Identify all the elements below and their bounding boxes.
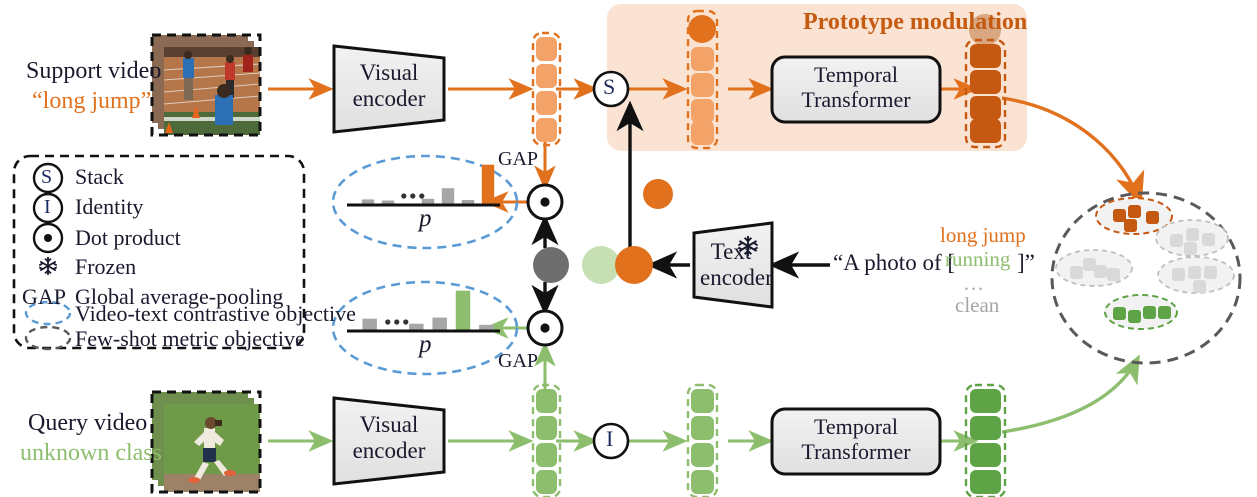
text-encoder-label: Textencoder <box>700 239 762 291</box>
query-video-class: unknown class <box>20 440 162 467</box>
query-to-embedding-arrow <box>1002 358 1138 432</box>
chart-bar <box>432 318 446 331</box>
legend-icon-dot-product <box>34 224 62 252</box>
prompt-class-long-jump: long jump <box>940 224 1026 248</box>
query-video-thumbnail <box>152 392 260 492</box>
support-video-thumbnail <box>152 35 260 135</box>
chart-ellipsis-dot <box>419 193 424 198</box>
query-p-label: p <box>419 331 432 359</box>
support-dot-product-node[interactable] <box>528 185 562 219</box>
support-p-label: p <box>419 205 432 233</box>
support-gap-label: GAP <box>498 148 538 170</box>
legend-label-stack: Stack <box>75 165 124 190</box>
text-prototype-circle <box>643 179 673 209</box>
cluster-gray-right-top <box>1156 220 1228 256</box>
prompt-class-running: running <box>945 248 1010 272</box>
chart-bar <box>456 291 470 331</box>
legend-label-frozen: Frozen <box>75 255 136 280</box>
chart-ellipsis-dot <box>394 319 399 324</box>
query-similarity-chart <box>333 282 517 374</box>
legend-glyph-stack: S <box>41 166 52 188</box>
chart-ellipsis-dot <box>410 193 415 198</box>
prompt-class-ellipsis: … <box>963 272 986 296</box>
query-gap-label: GAP <box>498 350 538 372</box>
legend-label-contrastive: Video-text contrastive objective <box>75 302 356 327</box>
gray-class-embedding <box>533 247 569 283</box>
query-dot-product-node[interactable] <box>528 311 562 345</box>
support-temporal-transformer-label: TemporalTransformer <box>780 63 932 112</box>
support-similarity-chart <box>333 156 517 248</box>
few-shot-metric-space <box>1052 193 1240 363</box>
cluster-gray-left <box>1056 250 1132 286</box>
query-video-title: Query video <box>28 410 147 437</box>
chart-ellipsis-dot <box>385 319 390 324</box>
query-feature-stack <box>533 385 560 497</box>
support-video-class: “long jump” <box>32 88 151 115</box>
prompt-class-clean: clean <box>955 294 999 318</box>
query-temporal-transformer-label: TemporalTransformer <box>780 415 932 464</box>
prototype-modulation-title: Prototype modulation <box>803 9 1027 36</box>
support-stacked-tokens <box>688 11 717 148</box>
legend-glyph-gap: GAP <box>22 285 66 310</box>
query-visual-encoder-label: Visualencoder <box>348 412 430 464</box>
support-feature-stack <box>533 33 560 145</box>
query-identity-stack <box>688 385 717 497</box>
cluster-query <box>1105 295 1177 329</box>
long-jump-class-embedding <box>615 246 653 284</box>
legend-label-dot-product: Dot product <box>75 226 181 251</box>
text-token-circle <box>688 15 716 43</box>
prompt-suffix: ]” <box>1017 250 1035 276</box>
cluster-long-jump <box>1096 198 1172 234</box>
chart-ellipsis-dot <box>401 193 406 198</box>
chart-ellipsis-dot <box>403 319 408 324</box>
chart-bar <box>442 188 454 205</box>
legend-label-fewshot: Few-shot metric objective <box>75 327 305 352</box>
support-video-title: Support video <box>26 58 161 85</box>
green-class-embedding <box>582 246 620 284</box>
identity-operator-label: I <box>606 427 613 452</box>
architecture-diagram <box>0 0 1257 497</box>
support-visual-encoder-label: Visualencoder <box>348 60 430 112</box>
prompt-prefix: “A photo of [ <box>833 250 955 276</box>
chart-bar <box>362 319 376 331</box>
chart-bar <box>482 165 494 205</box>
legend-label-identity: Identity <box>75 195 143 220</box>
cluster-gray-right-bottom <box>1158 257 1234 293</box>
legend-glyph-identity: I <box>44 196 51 218</box>
stack-operator-label: S <box>603 75 615 100</box>
